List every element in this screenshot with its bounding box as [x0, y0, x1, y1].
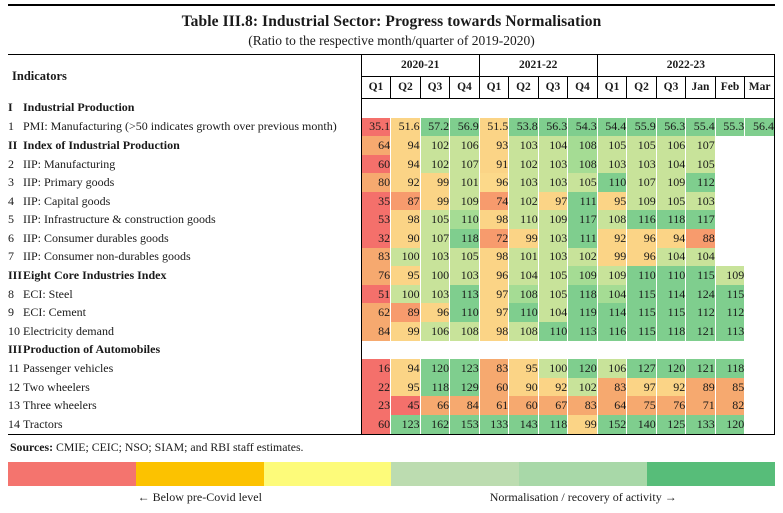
table-cell: 108: [509, 322, 539, 341]
page-subtitle: (Ratio to the respective month/quarter o…: [8, 32, 775, 50]
table-section-row: IIndustrial Production: [8, 98, 775, 117]
row-label-text: IIP: Infrastructure & construction goods: [23, 212, 216, 226]
table-cell: [745, 173, 775, 192]
table-cell: 106: [450, 136, 480, 155]
table-cell: 74: [479, 192, 509, 211]
table-cell: 97: [627, 378, 657, 397]
table-cell: 72: [479, 229, 509, 248]
table-cell: [656, 98, 686, 117]
table-cell: 102: [568, 378, 598, 397]
table-cell: [745, 415, 775, 434]
table-cell: 102: [420, 155, 450, 174]
table-cell: 115: [627, 322, 657, 341]
row-label: 6IIP: Consumer durables goods: [8, 229, 361, 248]
table-cell: 115: [627, 303, 657, 322]
table-cell: 84: [361, 322, 391, 341]
row-label-text: Production of Automobiles: [23, 342, 160, 356]
table-cell: [715, 192, 745, 211]
table-cell: 83: [597, 378, 627, 397]
table-cell: 105: [538, 266, 568, 285]
table-section-row: IIIEight Core Industries Index7695100103…: [8, 266, 775, 285]
table-cell: 94: [391, 359, 421, 378]
table-cell: 55.9: [627, 118, 657, 137]
table-cell: 120: [420, 359, 450, 378]
table-cell: 104: [538, 303, 568, 322]
table-cell: 56.9: [450, 118, 480, 137]
table-cell: [450, 98, 480, 117]
table-cell: 133: [686, 415, 716, 434]
table-section-row: IIIProduction of Automobiles: [8, 341, 775, 360]
table-cell: 115: [656, 303, 686, 322]
table-cell: 109: [627, 192, 657, 211]
table-cell: [745, 210, 775, 229]
table-cell: 110: [450, 303, 480, 322]
table-cell: [715, 136, 745, 155]
row-label: 4IIP: Capital goods: [8, 192, 361, 211]
table-cell: [479, 341, 509, 360]
table-row: 6IIP: Consumer durables goods32901071187…: [8, 229, 775, 248]
table-cell: 116: [627, 210, 657, 229]
table-cell: 110: [656, 266, 686, 285]
table-cell: 112: [715, 303, 745, 322]
table-cell: 95: [391, 378, 421, 397]
table-cell: 88: [686, 229, 716, 248]
row-label-text: Index of Industrial Production: [23, 138, 180, 152]
table-cell: 118: [656, 322, 686, 341]
row-index: III: [8, 268, 23, 283]
table-cell: 98: [391, 210, 421, 229]
row-label-text: Three wheelers: [23, 398, 97, 412]
table-row: 9ECI: Cement6289961109711010411911411511…: [8, 303, 775, 322]
table-cell: [450, 341, 480, 360]
row-index: 1: [8, 119, 23, 134]
table-cell: 103: [538, 229, 568, 248]
table-cell: 117: [568, 210, 598, 229]
table-cell: 105: [627, 136, 657, 155]
header-year-2020-21: 2020-21: [361, 54, 479, 76]
table-cell: 60: [361, 155, 391, 174]
row-label-text: Passenger vehicles: [23, 361, 113, 375]
table-cell: 53: [361, 210, 391, 229]
table-cell: 83: [479, 359, 509, 378]
table-cell: 111: [568, 192, 598, 211]
table-cell: 95: [597, 192, 627, 211]
header-year-2022-23: 2022-23: [597, 54, 774, 76]
table-cell: 104: [656, 248, 686, 267]
table-cell: 109: [568, 266, 598, 285]
table-cell: 105: [538, 285, 568, 304]
table-row: 13Three wheelers234566846160678364757671…: [8, 396, 775, 415]
row-index: 7: [8, 249, 23, 264]
table-row: 5IIP: Infrastructure & construction good…: [8, 210, 775, 229]
table-cell: 83: [361, 248, 391, 267]
table-cell: 153: [450, 415, 480, 434]
table-cell: 104: [686, 248, 716, 267]
row-index: 9: [8, 305, 23, 320]
table-cell: [538, 341, 568, 360]
table-cell: 118: [568, 285, 598, 304]
table-cell: 62: [361, 303, 391, 322]
table-cell: 90: [509, 378, 539, 397]
table-cell: 94: [391, 155, 421, 174]
legend-swatch-3: [391, 462, 519, 486]
table-cell: [745, 359, 775, 378]
row-label: 1PMI: Manufacturing (>50 indicates growt…: [8, 118, 361, 137]
row-label: 10Electricity demand: [8, 322, 361, 341]
header-period-0: Q1: [361, 76, 391, 98]
table-row: 14Tractors601231621531331431189915214012…: [8, 415, 775, 434]
table-cell: 55.3: [715, 118, 745, 137]
row-index: 6: [8, 231, 23, 246]
table-cell: 103: [509, 136, 539, 155]
header-period-2: Q3: [420, 76, 450, 98]
table-cell: 67: [538, 396, 568, 415]
table-cell: 80: [361, 173, 391, 192]
header-year-row: Indicators 2020-21 2021-22 2022-23: [8, 54, 775, 76]
table-cell: 101: [509, 248, 539, 267]
table-cell: 110: [538, 322, 568, 341]
table-cell: 118: [450, 229, 480, 248]
table-cell: 96: [627, 229, 657, 248]
table-cell: 95: [509, 359, 539, 378]
table-cell: [391, 341, 421, 360]
table-cell: 99: [420, 173, 450, 192]
table-cell: [361, 341, 391, 360]
table-cell: 124: [686, 285, 716, 304]
table-cell: 96: [627, 248, 657, 267]
table-cell: 103: [597, 155, 627, 174]
table-cell: [420, 98, 450, 117]
table-cell: [391, 98, 421, 117]
table-cell: 118: [715, 359, 745, 378]
table-cell: [745, 192, 775, 211]
row-label: IIndustrial Production: [8, 98, 361, 117]
header-period-10: Q3: [656, 76, 686, 98]
table-cell: 103: [627, 155, 657, 174]
row-label-text: ECI: Cement: [23, 305, 86, 319]
header-period-1: Q2: [391, 76, 421, 98]
table-cell: 105: [656, 192, 686, 211]
table-cell: 55.4: [686, 118, 716, 137]
table-cell: 94: [656, 229, 686, 248]
table-cell: 97: [479, 303, 509, 322]
table-cell: [538, 98, 568, 117]
table-cell: 108: [597, 210, 627, 229]
row-label-text: Eight Core Industries Index: [23, 268, 166, 282]
table-row: 8ECI: Steel51100103113971081051181041151…: [8, 285, 775, 304]
table-cell: 56.3: [656, 118, 686, 137]
table-cell: 16: [361, 359, 391, 378]
table-cell: 133: [479, 415, 509, 434]
legend-labels: ← Below pre-Covid level Normalisation / …: [8, 486, 775, 505]
table-cell: [745, 378, 775, 397]
table-cell: [715, 173, 745, 192]
row-label: 13Three wheelers: [8, 396, 361, 415]
table-cell: 107: [420, 229, 450, 248]
table-cell: [745, 322, 775, 341]
table-cell: 57.2: [420, 118, 450, 137]
table-cell: 84: [450, 396, 480, 415]
table-cell: 107: [450, 155, 480, 174]
table-cell: [715, 229, 745, 248]
table-cell: 98: [479, 210, 509, 229]
table-cell: 110: [450, 210, 480, 229]
table-cell: 102: [568, 248, 598, 267]
table-cell: [686, 98, 716, 117]
table-cell: 115: [715, 285, 745, 304]
table-cell: [745, 155, 775, 174]
table-cell: [568, 98, 598, 117]
table-cell: 110: [627, 266, 657, 285]
table-cell: [656, 341, 686, 360]
table-cell: 87: [391, 192, 421, 211]
table-cell: 23: [361, 396, 391, 415]
table-cell: 129: [450, 378, 480, 397]
table-cell: 102: [420, 136, 450, 155]
table-cell: [627, 98, 657, 117]
table-cell: 116: [597, 322, 627, 341]
row-index: II: [8, 138, 23, 153]
table-cell: 100: [538, 359, 568, 378]
table-cell: [420, 341, 450, 360]
table-cell: 100: [391, 285, 421, 304]
table-cell: 71: [686, 396, 716, 415]
legend-swatch-0: [8, 462, 136, 486]
table-cell: 96: [479, 173, 509, 192]
table-cell: 91: [479, 155, 509, 174]
header-period-9: Q2: [627, 76, 657, 98]
table-cell: 51.6: [391, 118, 421, 137]
table-cell: 93: [479, 136, 509, 155]
table-cell: 107: [686, 136, 716, 155]
header-period-3: Q4: [450, 76, 480, 98]
table-cell: 120: [715, 415, 745, 434]
table-cell: 56.3: [538, 118, 568, 137]
table-cell: 112: [686, 173, 716, 192]
table-cell: 98: [479, 248, 509, 267]
table-cell: 102: [509, 192, 539, 211]
table-section-row: IIIndex of Industrial Production64941021…: [8, 136, 775, 155]
row-index: 3: [8, 175, 23, 190]
legend-right-label: Normalisation / recovery of activity →: [392, 490, 776, 505]
table-cell: 76: [656, 396, 686, 415]
table-cell: 114: [656, 285, 686, 304]
table-cell: 111: [568, 229, 598, 248]
row-label: 14Tractors: [8, 415, 361, 434]
table-cell: 108: [568, 155, 598, 174]
table-cell: 108: [450, 322, 480, 341]
table-cell: 35: [361, 192, 391, 211]
table-cell: 99: [568, 415, 598, 434]
row-index: 14: [8, 417, 23, 432]
table-cell: 107: [627, 173, 657, 192]
header-year-2021-22: 2021-22: [479, 54, 597, 76]
table-cell: 108: [568, 136, 598, 155]
table-cell: 95: [391, 266, 421, 285]
table-cell: [745, 396, 775, 415]
table-cell: 113: [715, 322, 745, 341]
table-cell: 96: [420, 303, 450, 322]
table-cell: 76: [361, 266, 391, 285]
table-cell: 118: [656, 210, 686, 229]
table-cell: [627, 341, 657, 360]
row-label-text: IIP: Primary goods: [23, 175, 114, 189]
table-cell: [509, 341, 539, 360]
table-cell: [715, 210, 745, 229]
table-cell: 99: [391, 322, 421, 341]
table-cell: 118: [538, 415, 568, 434]
table-cell: 54.4: [597, 118, 627, 137]
table-row: 3IIP: Primary goods809299101961031031051…: [8, 173, 775, 192]
table-cell: 109: [715, 266, 745, 285]
table-cell: 104: [509, 266, 539, 285]
table-cell: 32: [361, 229, 391, 248]
table-cell: [745, 341, 775, 360]
table-cell: 103: [420, 248, 450, 267]
table-cell: [597, 98, 627, 117]
table-cell: [745, 303, 775, 322]
row-label-text: IIP: Capital goods: [23, 194, 110, 208]
row-label-text: Industrial Production: [23, 100, 134, 114]
table-cell: 106: [420, 322, 450, 341]
table-row: 12Two wheelers22951181296090921028397928…: [8, 378, 775, 397]
row-label-text: Tractors: [23, 417, 63, 431]
row-label-text: IIP: Consumer non-durables goods: [23, 249, 191, 263]
table-cell: 99: [509, 229, 539, 248]
data-table: Indicators 2020-21 2021-22 2022-23 Q1Q2Q…: [8, 54, 775, 434]
table-cell: 100: [391, 248, 421, 267]
header-period-8: Q1: [597, 76, 627, 98]
table-cell: 92: [538, 378, 568, 397]
table-row: 10Electricity demand84991061089810811011…: [8, 322, 775, 341]
table-cell: [597, 341, 627, 360]
title-block: Table III.8: Industrial Sector: Progress…: [8, 6, 775, 54]
table-cell: 60: [479, 378, 509, 397]
table-cell: 143: [509, 415, 539, 434]
table-cell: 89: [686, 378, 716, 397]
table-cell: 103: [509, 173, 539, 192]
row-label: 2IIP: Manufacturing: [8, 155, 361, 174]
table-cell: 100: [420, 266, 450, 285]
table-cell: 61: [479, 396, 509, 415]
table-cell: [361, 98, 391, 117]
table-cell: 53.8: [509, 118, 539, 137]
table-cell: 109: [597, 266, 627, 285]
row-index: 10: [8, 324, 23, 339]
row-label-text: PMI: Manufacturing (>50 indicates growth…: [23, 119, 337, 133]
legend-left-label: ← Below pre-Covid level: [8, 490, 392, 505]
page-title: Table III.8: Industrial Sector: Progress…: [8, 12, 775, 31]
table-cell: 60: [509, 396, 539, 415]
table-cell: 127: [627, 359, 657, 378]
table-cell: [715, 155, 745, 174]
table-cell: 114: [597, 303, 627, 322]
table-cell: 125: [656, 415, 686, 434]
table-cell: [715, 98, 745, 117]
table-cell: 105: [420, 210, 450, 229]
row-index: 2: [8, 157, 23, 172]
table-cell: 99: [420, 192, 450, 211]
table-cell: 85: [715, 378, 745, 397]
table-cell: 113: [568, 322, 598, 341]
table-cell: 51: [361, 285, 391, 304]
table-cell: [509, 98, 539, 117]
header-period-13: Mar: [745, 76, 775, 98]
legend: ← Below pre-Covid level Normalisation / …: [8, 462, 775, 505]
legend-swatch-5: [647, 462, 775, 486]
table-cell: [686, 341, 716, 360]
table-cell: 54.3: [568, 118, 598, 137]
row-label: 5IIP: Infrastructure & construction good…: [8, 210, 361, 229]
table-cell: 56.4: [745, 118, 775, 137]
table-cell: 82: [715, 396, 745, 415]
table-row: 4IIP: Capital goods358799109741029711195…: [8, 192, 775, 211]
table-cell: 105: [450, 248, 480, 267]
table-cell: 110: [597, 173, 627, 192]
row-index: 12: [8, 380, 23, 395]
table-cell: 117: [686, 210, 716, 229]
table-cell: 98: [479, 322, 509, 341]
table-page: Table III.8: Industrial Sector: Progress…: [0, 4, 783, 513]
table-cell: 115: [686, 266, 716, 285]
row-label: 8ECI: Steel: [8, 285, 361, 304]
table-cell: 66: [420, 396, 450, 415]
sources-text: CMIE; CEIC; NSO; SIAM; and RBI staff est…: [56, 440, 304, 454]
table-cell: 109: [450, 192, 480, 211]
table-cell: [745, 136, 775, 155]
row-label: 7IIP: Consumer non-durables goods: [8, 248, 361, 267]
table-cell: 103: [686, 192, 716, 211]
table-cell: 106: [656, 136, 686, 155]
table-cell: 22: [361, 378, 391, 397]
header-indicators-label: Indicators: [8, 54, 361, 98]
table-cell: 103: [538, 155, 568, 174]
table-cell: 103: [538, 248, 568, 267]
row-label: IIIndex of Industrial Production: [8, 136, 361, 155]
table-row: 2IIP: Manufacturing609410210791102103108…: [8, 155, 775, 174]
table-cell: 92: [656, 378, 686, 397]
legend-color-bar: [8, 462, 775, 486]
table-cell: 105: [597, 136, 627, 155]
row-index: 4: [8, 194, 23, 209]
table-cell: 108: [509, 285, 539, 304]
table-cell: 96: [479, 266, 509, 285]
table-cell: 104: [597, 285, 627, 304]
table-cell: 104: [538, 136, 568, 155]
table-row: 7IIP: Consumer non-durables goods8310010…: [8, 248, 775, 267]
table-cell: [745, 98, 775, 117]
table-cell: 123: [450, 359, 480, 378]
header-period-4: Q1: [479, 76, 509, 98]
table-cell: 90: [391, 229, 421, 248]
row-label: IIIEight Core Industries Index: [8, 266, 361, 285]
table-cell: 64: [361, 136, 391, 155]
row-label: IIIProduction of Automobiles: [8, 341, 361, 360]
table-cell: 51.5: [479, 118, 509, 137]
table-cell: 97: [479, 285, 509, 304]
table-cell: 109: [656, 173, 686, 192]
header-period-6: Q3: [538, 76, 568, 98]
table-cell: 119: [568, 303, 598, 322]
table-cell: 120: [656, 359, 686, 378]
table-cell: 109: [538, 210, 568, 229]
table-cell: 162: [420, 415, 450, 434]
row-label-text: IIP: Manufacturing: [23, 157, 115, 171]
table-cell: 64: [597, 396, 627, 415]
row-label-text: Two wheelers: [23, 380, 90, 394]
table-cell: 113: [450, 285, 480, 304]
table-cell: 115: [627, 285, 657, 304]
